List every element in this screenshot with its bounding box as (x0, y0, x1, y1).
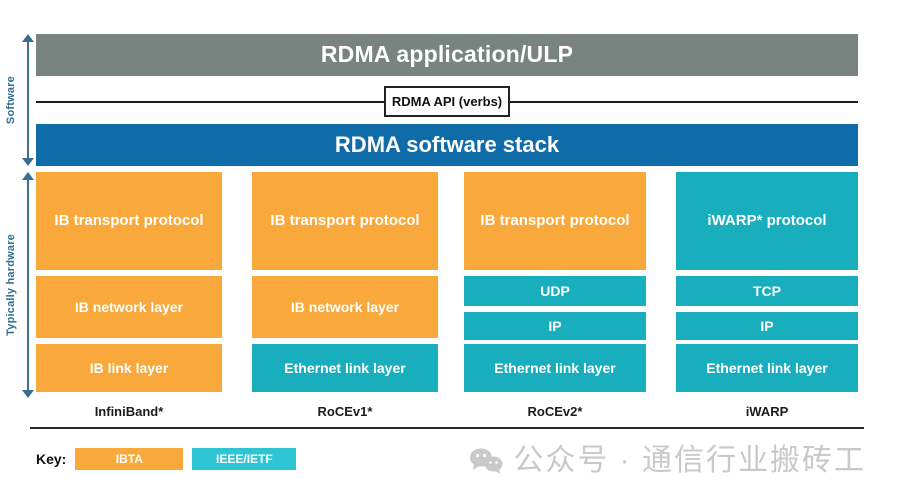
api-connector-line-left (36, 101, 384, 103)
scope-software: Software (4, 34, 34, 166)
scope-typically-hardware: Typically hardware (4, 172, 34, 398)
wechat-icon (469, 447, 503, 475)
protocol-columns: IB transport protocolIB network layerIB … (36, 172, 858, 398)
scope-typically-hardware-label: Typically hardware (4, 234, 18, 336)
layer-box: IP (464, 312, 646, 340)
layer-box: IB transport protocol (464, 172, 646, 270)
layer-box: IP (676, 312, 858, 340)
protocol-column-label: RoCEv2* (464, 404, 646, 419)
protocol-column-label: RoCEv1* (252, 404, 438, 419)
baseline-rule (30, 427, 864, 429)
rdma-protocol-stack-diagram: Software Typically hardware RDMA applica… (0, 0, 898, 500)
layer-box: UDP (464, 276, 646, 306)
protocol-column-rocev2: IB transport protocolUDPIPEthernet link … (464, 172, 646, 398)
rdma-software-stack-bar: RDMA software stack (36, 124, 858, 166)
protocol-column-label: InfiniBand* (36, 404, 222, 419)
layer-box: Ethernet link layer (464, 344, 646, 392)
layer-box: Ethernet link layer (676, 344, 858, 392)
api-connector-line-right (510, 101, 858, 103)
layer-box: IB network layer (36, 276, 222, 338)
rdma-application-ulp-bar: RDMA application/ULP (36, 34, 858, 76)
rdma-api-verbs-box: RDMA API (verbs) (384, 86, 510, 117)
arrow-shaft (27, 41, 29, 159)
protocol-column-rocev1: IB transport protocolIB network layerEth… (252, 172, 438, 398)
arrow-head-down-icon (22, 158, 34, 166)
layer-box: IB transport protocol (36, 172, 222, 270)
key-label: Key: (36, 451, 66, 467)
scope-software-arrow (22, 34, 34, 166)
layer-box: IB link layer (36, 344, 222, 392)
layer-box: TCP (676, 276, 858, 306)
protocol-column-iwarp: iWARP* protocolTCPIPEthernet link layeri… (676, 172, 858, 398)
key-chip-ieee-ietf: IEEE/IETF (192, 448, 296, 470)
protocol-column-label: iWARP (676, 404, 858, 419)
scope-typically-hardware-arrow (22, 172, 34, 398)
arrow-shaft (27, 179, 29, 391)
arrow-head-down-icon (22, 390, 34, 398)
layer-box: Ethernet link layer (252, 344, 438, 392)
watermark-text: 公众号 · 通信行业搬砖工 (513, 446, 866, 476)
protocol-column-infiniband: IB transport protocolIB network layerIB … (36, 172, 222, 398)
layer-box: iWARP* protocol (676, 172, 858, 270)
scope-software-label: Software (4, 76, 18, 124)
layer-box: IB network layer (252, 276, 438, 338)
rdma-api-row: RDMA API (verbs) (36, 86, 858, 118)
key-chip-ibta: IBTA (75, 448, 183, 470)
key-legend: Key: IBTA IEEE/IETF (36, 448, 296, 470)
watermark: 公众号 · 通信行业搬砖工 (469, 446, 866, 476)
layer-box: IB transport protocol (252, 172, 438, 270)
